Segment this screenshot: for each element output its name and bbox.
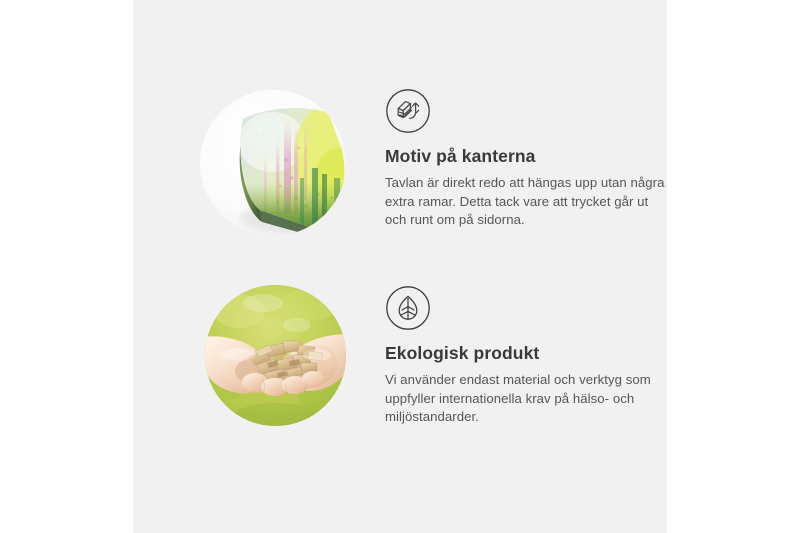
feature-text-ekologisk-produkt: Ekologisk produkt Vi använder endast mat… [385, 285, 665, 427]
feature-text-motiv-pa-kanterna: Motiv på kanterna Tavlan är direkt redo … [385, 88, 665, 230]
canvas-edge-print-icon [385, 88, 431, 134]
feature-title: Ekologisk produkt [385, 343, 665, 364]
feature-description: Tavlan är direkt redo att hängas upp uta… [385, 174, 665, 230]
feature-title: Motiv på kanterna [385, 146, 665, 167]
feature-description: Vi använder endast material och verktyg … [385, 371, 665, 427]
content-panel: Motiv på kanterna Tavlan är direkt redo … [133, 0, 667, 533]
page-root: Motiv på kanterna Tavlan är direkt redo … [0, 0, 800, 533]
feature-block-ekologisk-produkt: Ekologisk produkt Vi använder endast mat… [133, 265, 667, 455]
hands-wood-chips-illustration [205, 285, 346, 426]
feature-block-motiv-pa-kanterna: Motiv på kanterna Tavlan är direkt redo … [133, 70, 667, 260]
canvas-print-edge-photo [200, 90, 346, 236]
leaf-icon [385, 285, 431, 331]
canvas-print-edge-illustration [200, 90, 346, 236]
hands-holding-wood-chips-photo [205, 285, 346, 426]
